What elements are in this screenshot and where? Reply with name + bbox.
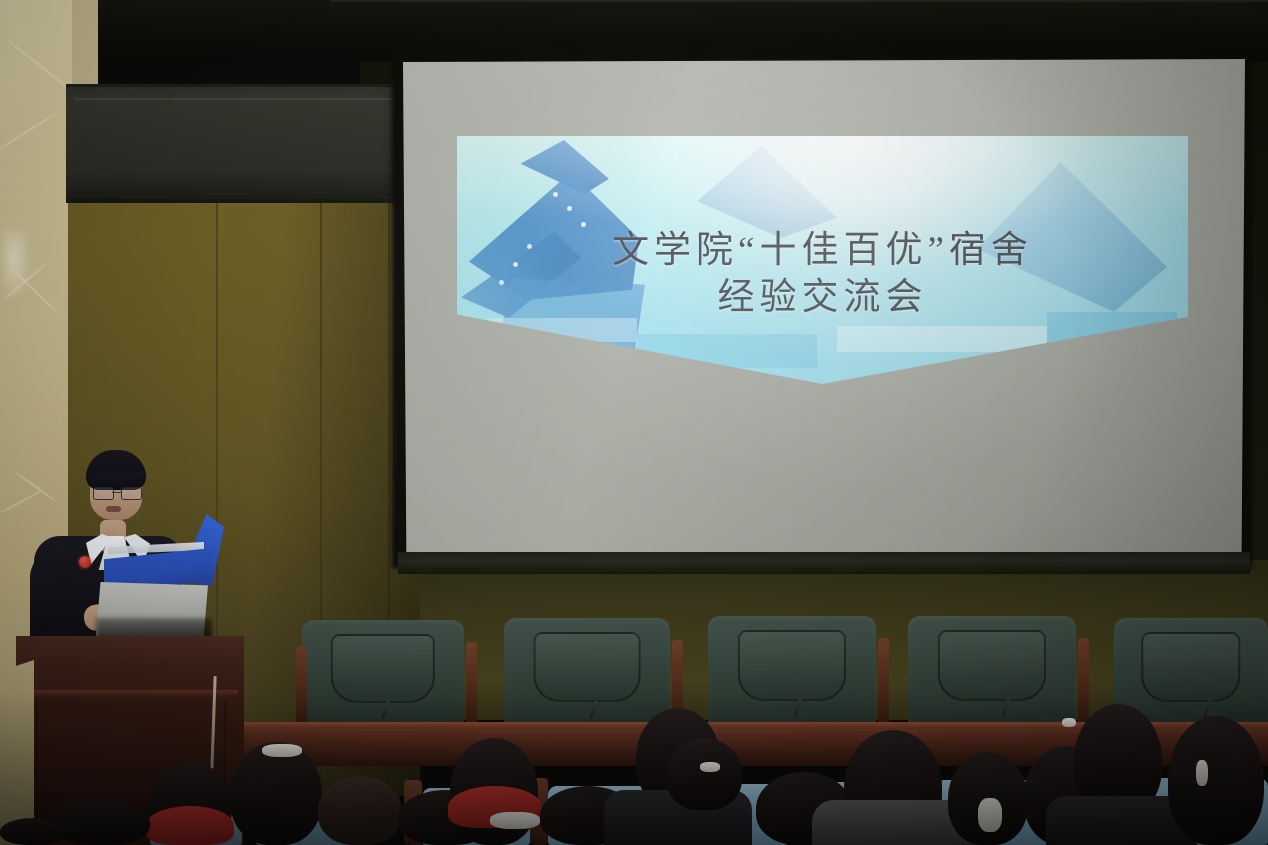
hair-clip-icon-2: [1062, 718, 1076, 727]
lapel-badge: [79, 556, 91, 568]
chair-headrest: [534, 632, 641, 702]
auditorium-photo: 文学院“十佳百优”宿舍 经验交流会: [0, 0, 1268, 845]
exec-chair-arm-2: [466, 642, 477, 728]
presenter-hair-fringe: [88, 472, 144, 486]
red-hat-icon: [146, 806, 234, 845]
chair-headrest: [1141, 632, 1240, 702]
hair-clip-icon-1: [700, 762, 720, 772]
white-hair-band-2: [490, 812, 540, 829]
slide-title: 文学院“十佳百优”宿舍 经验交流会: [457, 228, 1188, 322]
audience-member-14: [1168, 716, 1264, 845]
marble-highlight: [2, 230, 32, 302]
chair-headrest: [738, 630, 846, 701]
exec-chair-arm-4: [878, 638, 889, 728]
audience-member-8: [666, 738, 742, 810]
slide-title-line-2: 经验交流会: [457, 275, 1188, 322]
slide-title-line-1: 文学院“十佳百优”宿舍: [612, 230, 1033, 271]
exec-chair-2: [504, 618, 670, 732]
exec-chair-arm-1: [296, 646, 307, 728]
white-hair-band-3: [978, 798, 1002, 832]
podium-lip: [22, 690, 238, 698]
audience-member-2: [230, 742, 322, 845]
hair-clip-icon-3: [1196, 760, 1208, 786]
audience-member-16: [0, 818, 66, 845]
ceiling-trim: [330, 0, 1268, 4]
chair-headrest: [331, 634, 435, 703]
audience-member-15: [54, 800, 150, 845]
dark-valance-header: [66, 84, 422, 203]
glasses-icon: [93, 487, 140, 498]
valance-groove: [74, 98, 414, 100]
exec-chair-3: [708, 616, 876, 732]
presenter-mouth: [106, 506, 121, 512]
white-hair-band-1: [262, 744, 302, 757]
chair-headrest: [938, 630, 1046, 701]
exec-chair-4: [908, 616, 1076, 732]
exec-chair-arm-5: [1078, 638, 1089, 728]
audience-member-3: [318, 776, 402, 845]
screen-weight-bar: [398, 552, 1250, 574]
